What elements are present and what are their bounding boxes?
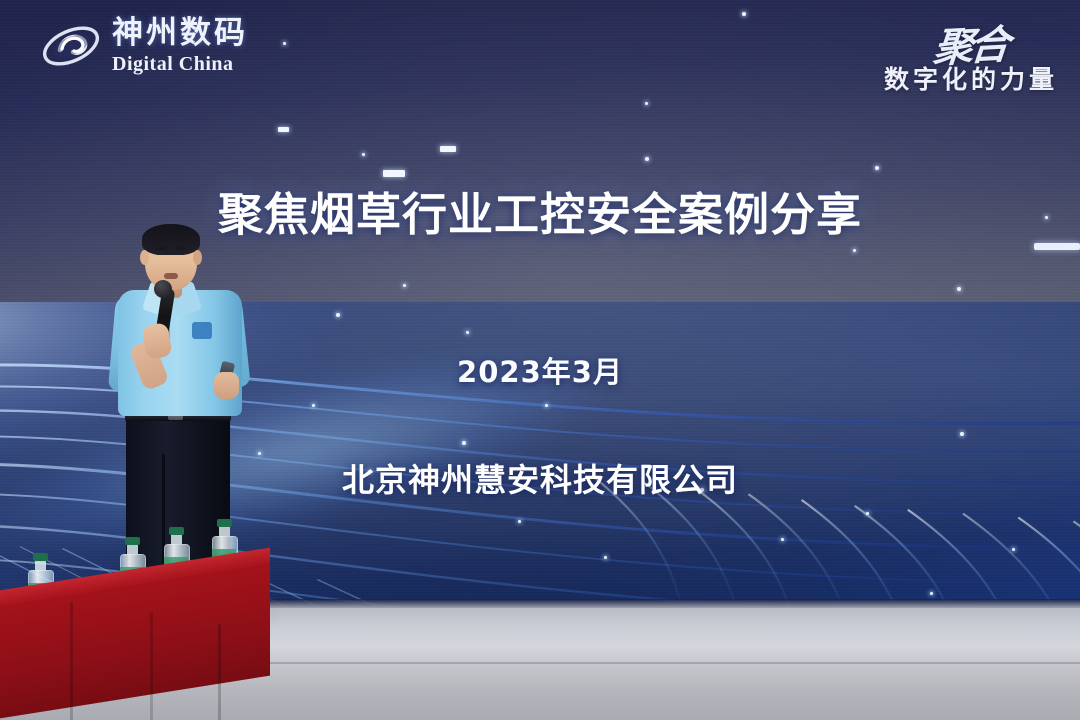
speaker-eyebrow-left xyxy=(155,247,166,250)
conference-photo: 神州数码 Digital China 聚合 数字化的力量 聚焦烟草行业工控安全案… xyxy=(0,0,1080,720)
bottle-cap xyxy=(125,537,140,545)
speaker-right-hand xyxy=(214,372,239,399)
speaker-eyebrow-right xyxy=(175,247,186,250)
bottle-neck xyxy=(171,535,182,544)
foreground-table xyxy=(0,560,268,720)
speaker-mouth xyxy=(164,273,178,279)
speaker-eye-right xyxy=(176,252,185,255)
bottle-cap xyxy=(217,519,232,527)
logo-chinese-name: 神州数码 xyxy=(112,18,248,49)
speaker-ear-right xyxy=(193,250,202,265)
digital-china-wordmark: 神州数码 Digital China xyxy=(112,18,248,74)
bottle-cap xyxy=(33,553,48,561)
bottle-neck xyxy=(127,545,138,554)
screen-edge-marker xyxy=(1034,243,1080,250)
tablecloth-fold xyxy=(70,602,73,720)
digital-china-swirl-logo-icon xyxy=(40,19,102,73)
bottle-neck xyxy=(219,527,230,536)
chest-badge-icon xyxy=(192,322,212,339)
bottle-neck xyxy=(35,561,46,570)
event-brand-lockup: 聚合 数字化的力量 xyxy=(884,14,1058,96)
speaker-ear-left xyxy=(140,250,149,265)
tablecloth-fold xyxy=(150,612,153,720)
speaker-eye-left xyxy=(156,252,165,255)
logo-english-name: Digital China xyxy=(112,54,248,74)
digital-china-logo: 神州数码 Digital China xyxy=(40,18,248,74)
tablecloth-fold xyxy=(218,624,221,720)
speaker-hair xyxy=(142,224,200,255)
bottle-cap xyxy=(169,527,184,535)
event-calligraphy: 聚合 xyxy=(931,12,1009,74)
